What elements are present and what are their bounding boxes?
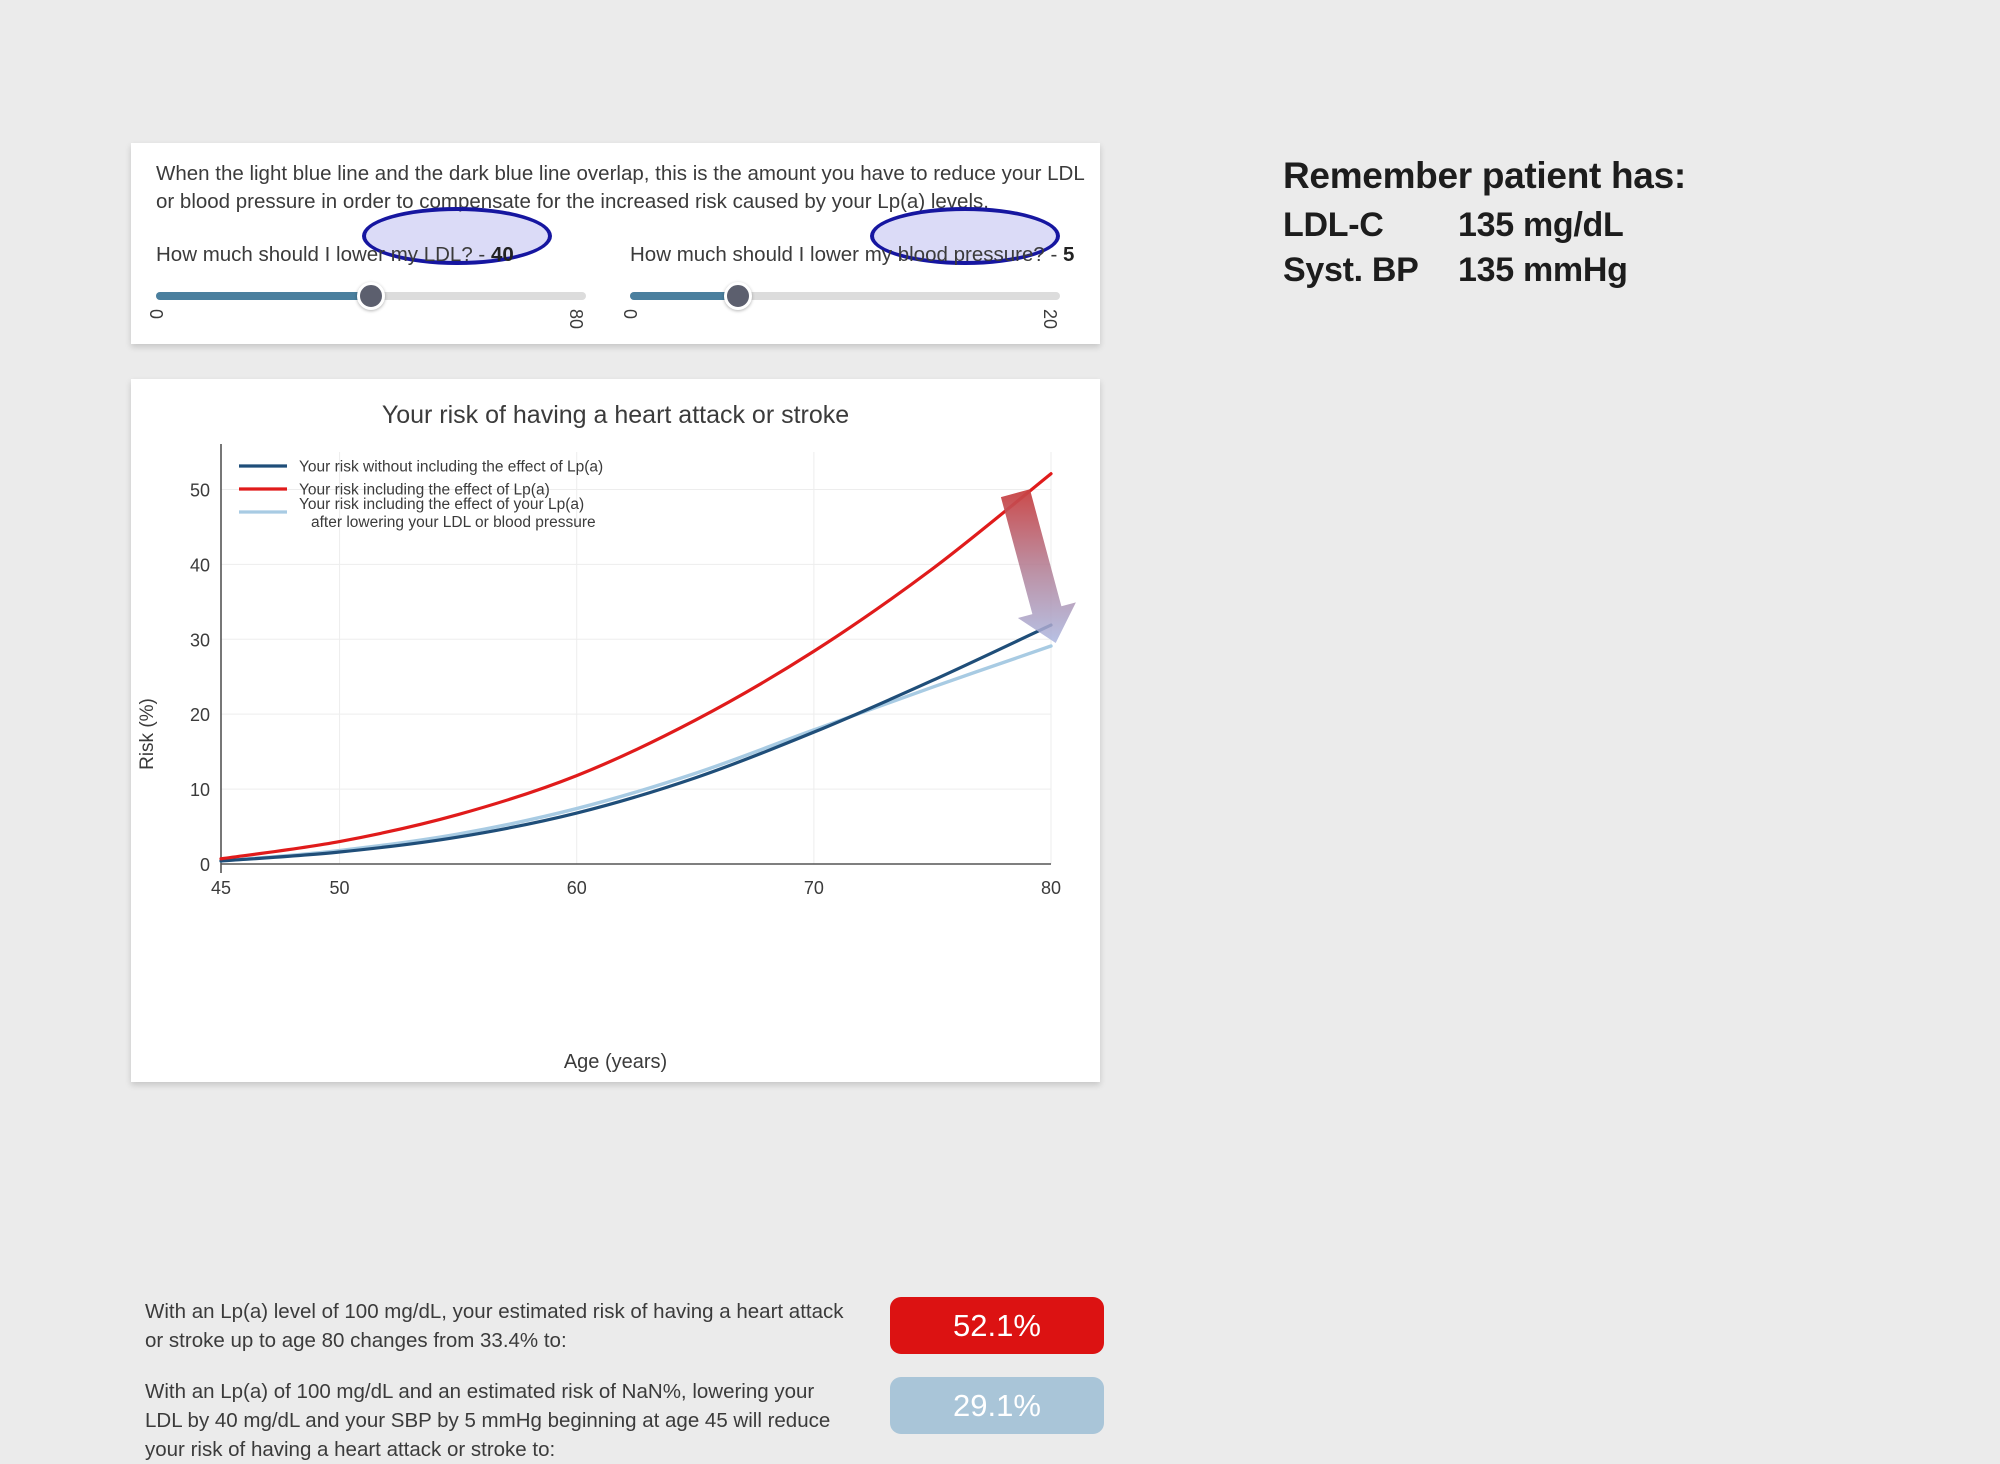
chart-xtick-labels: 4550607080 (211, 878, 1061, 898)
chart-ytick-labels: 01020304050 (190, 480, 210, 875)
svg-text:10: 10 (190, 780, 210, 800)
svg-text:after lowering your LDL or blo: after lowering your LDL or blood pressur… (311, 514, 596, 531)
bp-slider-track-wrap[interactable] (630, 289, 1060, 303)
reminder-key-bp: Syst. BP (1283, 251, 1458, 290)
intro-text: When the light blue line and the dark bl… (156, 160, 1086, 217)
chart-series (221, 474, 1051, 861)
svg-text:30: 30 (190, 630, 210, 650)
bp-value: 5 (1063, 243, 1074, 266)
svg-text:20: 20 (190, 705, 210, 725)
reminder-row-bp: Syst. BP 135 mmHg (1283, 251, 1883, 290)
svg-text:50: 50 (190, 480, 210, 500)
result-text-2: With an Lp(a) of 100 mg/dL and an estima… (145, 1377, 845, 1464)
svg-text:80: 80 (1041, 878, 1061, 898)
chart-title: Your risk of having a heart attack or st… (131, 401, 1100, 430)
svg-text:Your risk without including th: Your risk without including the effect o… (299, 459, 603, 476)
result-badge-1: 52.1% (890, 1297, 1104, 1354)
reminder-key-ldl: LDL-C (1283, 206, 1458, 245)
svg-text:60: 60 (567, 878, 587, 898)
reminder-value-ldl: 135 mg/dL (1458, 206, 1623, 245)
svg-text:50: 50 (330, 878, 350, 898)
ldl-slider-thumb[interactable] (357, 282, 385, 310)
risk-chart-svg: 01020304050 4550607080 Your risk without… (131, 434, 1100, 954)
bp-slider-thumb[interactable] (724, 282, 752, 310)
reminder-row-ldl: LDL-C 135 mg/dL (1283, 206, 1883, 245)
controls-card: When the light blue line and the dark bl… (131, 143, 1100, 344)
ldl-tick-max: 80 (565, 309, 586, 329)
reminder-panel: Remember patient has: LDL-C 135 mg/dL Sy… (1283, 155, 1883, 296)
chart-xlabel: Age (years) (131, 1051, 1100, 1074)
bp-tick-min: 0 (619, 309, 640, 319)
reminder-value-bp: 135 mmHg (1458, 251, 1628, 290)
ldl-tick-min: 0 (145, 309, 166, 319)
svg-text:0: 0 (200, 855, 210, 875)
ldl-slider-label: How much should I lower my LDL? - 40 (156, 243, 586, 267)
ldl-slider-track-wrap[interactable] (156, 289, 586, 303)
ldl-value: 40 (491, 243, 514, 266)
chart-ylabel: Risk (%) (137, 698, 158, 770)
chart-card: Your risk of having a heart attack or st… (131, 379, 1100, 1082)
bp-tick-max: 20 (1039, 309, 1060, 329)
reminder-heading: Remember patient has: (1283, 155, 1883, 197)
chart-arrow-annotation (1001, 489, 1076, 643)
bp-slider-ticks: 0 20 (630, 309, 1060, 343)
risk-chart: 01020304050 4550607080 Your risk without… (131, 434, 1100, 954)
chart-legend: Your risk without including the effect o… (239, 459, 603, 532)
svg-text:45: 45 (211, 878, 231, 898)
result-text-1: With an Lp(a) level of 100 mg/dL, your e… (145, 1297, 845, 1355)
bp-slider-fill (630, 292, 738, 300)
ldl-slider-group: How much should I lower my LDL? - 40 0 8… (156, 243, 586, 343)
bp-slider-label: How much should I lower my blood pressur… (630, 243, 1060, 267)
svg-text:Your risk including the effect: Your risk including the effect of your L… (299, 496, 584, 513)
ldl-slider-ticks: 0 80 (156, 309, 586, 343)
bp-slider-group: How much should I lower my blood pressur… (630, 243, 1060, 343)
ldl-slider-fill (156, 292, 371, 300)
result-badge-2: 29.1% (890, 1377, 1104, 1434)
ldl-label-prefix: How much should I lower my LDL? - (156, 243, 491, 266)
svg-text:40: 40 (190, 555, 210, 575)
svg-text:70: 70 (804, 878, 824, 898)
bp-label-prefix: How much should I lower my blood pressur… (630, 243, 1063, 266)
